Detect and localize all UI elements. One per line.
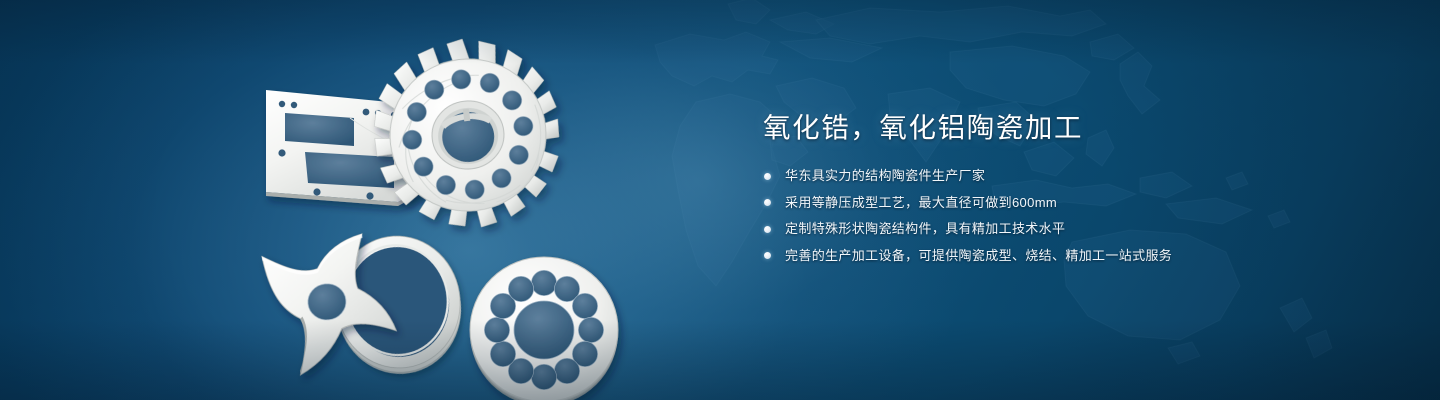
hero-banner: 氧化锆，氧化铝陶瓷加工 华东具实力的结构陶瓷件生产厂家 采用等静压成型工艺，最大…	[0, 0, 1440, 400]
list-item: 华东具实力的结构陶瓷件生产厂家	[763, 167, 1323, 185]
bullet-dot-icon	[764, 226, 771, 233]
page-title: 氧化锆，氧化铝陶瓷加工	[763, 108, 1323, 148]
list-item-label: 定制特殊形状陶瓷结构件，具有精加工技术水平	[785, 221, 1065, 236]
bullet-dot-icon	[764, 252, 771, 259]
list-item-label: 采用等静压成型工艺，最大直径可做到600mm	[785, 195, 1057, 210]
bullet-dot-icon	[764, 199, 771, 206]
list-item: 定制特殊形状陶瓷结构件，具有精加工技术水平	[763, 220, 1323, 238]
list-item: 采用等静压成型工艺，最大直径可做到600mm	[763, 194, 1323, 212]
bullet-dot-icon	[764, 173, 771, 180]
list-item-label: 华东具实力的结构陶瓷件生产厂家	[785, 168, 985, 183]
list-item-label: 完善的生产加工设备，可提供陶瓷成型、烧结、精加工一站式服务	[785, 248, 1172, 263]
banner-copy: 氧化锆，氧化铝陶瓷加工 华东具实力的结构陶瓷件生产厂家 采用等静压成型工艺，最大…	[763, 108, 1323, 273]
list-item: 完善的生产加工设备，可提供陶瓷成型、烧结、精加工一站式服务	[763, 247, 1323, 265]
feature-list: 华东具实力的结构陶瓷件生产厂家 采用等静压成型工艺，最大直径可做到600mm 定…	[763, 167, 1323, 265]
